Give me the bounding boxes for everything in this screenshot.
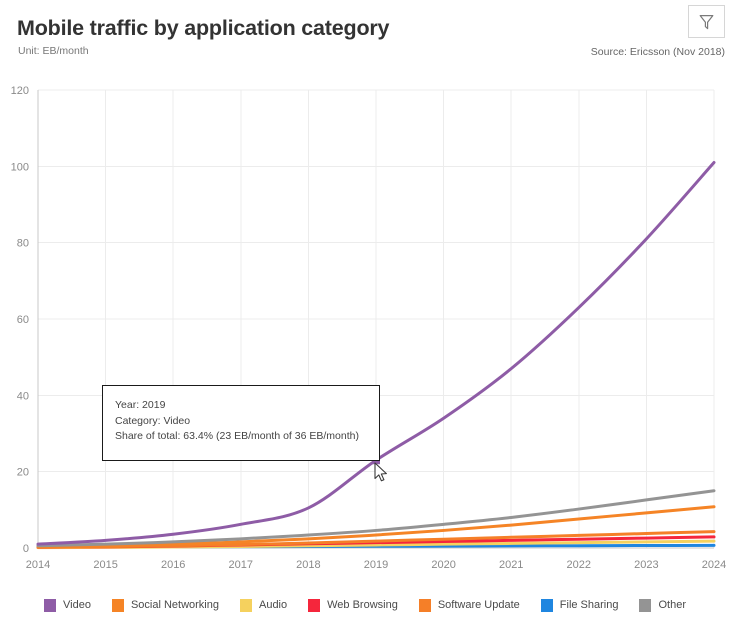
chart-tooltip: Year: 2019 Category: Video Share of tota…	[102, 385, 380, 461]
legend-item-other[interactable]: Other	[639, 599, 686, 612]
x-axis-tick-label: 2019	[364, 559, 388, 571]
legend-item-video[interactable]: Video	[44, 599, 91, 612]
legend-swatch-icon	[308, 599, 320, 612]
y-axis-tick-label: 20	[17, 467, 29, 479]
x-axis-tick-label: 2014	[26, 559, 50, 571]
tooltip-share: Share of total: 63.4% (23 EB/month of 36…	[115, 429, 379, 445]
legend-swatch-icon	[541, 599, 553, 612]
y-axis-tick-label: 60	[17, 314, 29, 326]
legend-swatch-icon	[240, 599, 252, 612]
x-axis-tick-label: 2024	[702, 559, 726, 571]
x-axis-tick-label: 2016	[161, 559, 185, 571]
tooltip-year: Year: 2019	[115, 398, 379, 414]
unit-label: Unit: EB/month	[18, 45, 89, 57]
legend-item-label: Social Networking	[131, 599, 219, 611]
y-axis-tick-label: 120	[11, 85, 29, 97]
filter-button[interactable]	[688, 5, 725, 38]
legend-item-label: Video	[63, 599, 91, 611]
plot-area: 0204060801001202014201520162017201820192…	[0, 72, 733, 587]
tooltip-category: Category: Video	[115, 414, 379, 430]
legend-item-label: Web Browsing	[327, 599, 398, 611]
legend-item-label: File Sharing	[560, 599, 619, 611]
page-title: Mobile traffic by application category	[17, 16, 389, 41]
legend-item-social-networking[interactable]: Social Networking	[112, 599, 219, 612]
x-axis-tick-label: 2017	[229, 559, 253, 571]
legend-item-file-sharing[interactable]: File Sharing	[541, 599, 619, 612]
x-axis-tick-label: 2023	[634, 559, 658, 571]
legend-item-software-update[interactable]: Software Update	[419, 599, 520, 612]
legend-swatch-icon	[44, 599, 56, 612]
y-axis-tick-label: 0	[23, 543, 29, 555]
legend-swatch-icon	[112, 599, 124, 612]
source-label: Source: Ericsson (Nov 2018)	[591, 46, 725, 58]
legend-item-audio[interactable]: Audio	[240, 599, 287, 612]
y-axis-tick-label: 100	[11, 161, 29, 173]
legend-item-label: Other	[658, 599, 686, 611]
legend-item-label: Audio	[259, 599, 287, 611]
x-axis-tick-label: 2020	[431, 559, 455, 571]
legend-item-label: Software Update	[438, 599, 520, 611]
x-axis-tick-label: 2018	[296, 559, 320, 571]
line-chart[interactable]: 0204060801001202014201520162017201820192…	[0, 72, 733, 587]
chart-page: Mobile traffic by application category U…	[0, 0, 733, 623]
chart-legend: VideoSocial NetworkingAudioWeb BrowsingS…	[0, 592, 733, 618]
y-axis-tick-label: 40	[17, 390, 29, 402]
legend-swatch-icon	[639, 599, 651, 612]
y-axis-tick-label: 80	[17, 238, 29, 250]
x-axis-tick-label: 2022	[567, 559, 591, 571]
x-axis-tick-label: 2021	[499, 559, 523, 571]
legend-item-web-browsing[interactable]: Web Browsing	[308, 599, 398, 612]
chart-header: Mobile traffic by application category U…	[0, 0, 733, 72]
filter-funnel-icon	[699, 14, 714, 30]
x-axis-tick-label: 2015	[93, 559, 117, 571]
legend-swatch-icon	[419, 599, 431, 612]
